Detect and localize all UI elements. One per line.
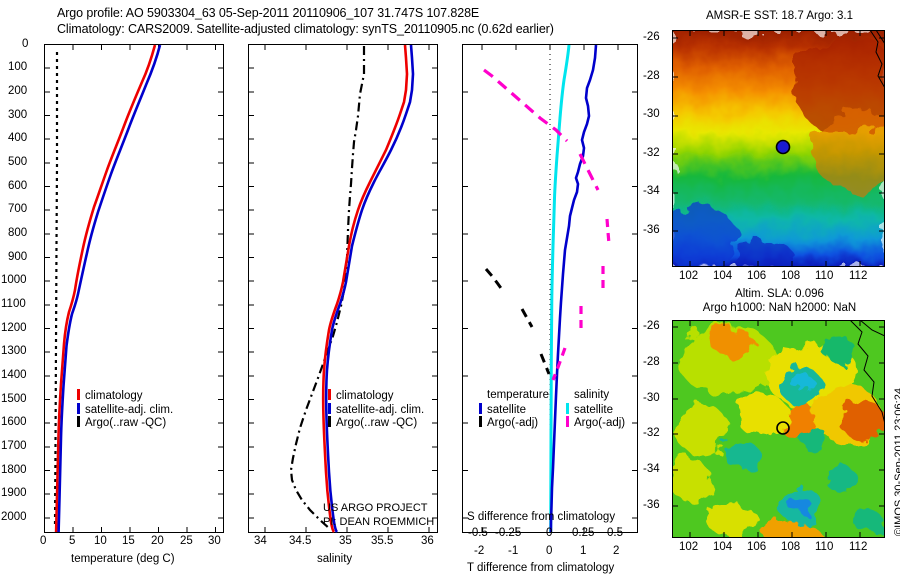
sla-ytick--30: -30 <box>643 392 660 404</box>
sla-xtick-106: 106 <box>747 541 766 553</box>
legend-label-sal-satellite: satellite <box>574 404 613 416</box>
legend-item-temp-satellite: satellite <box>479 403 549 417</box>
t-xtick-1: 1 <box>580 545 586 557</box>
sst-ytick--26: -26 <box>643 31 660 43</box>
sst-ytick--30: -30 <box>643 108 660 120</box>
argo-position-marker <box>777 141 790 154</box>
legend-swatch-sal-argo-adj <box>566 416 569 427</box>
s-xtick--0.25: -0.25 <box>495 527 521 539</box>
sst-ytick--32: -32 <box>643 147 660 159</box>
depth-tick-2000: 2000 <box>1 511 27 523</box>
legend-label-climatology: climatology <box>85 390 143 402</box>
legend-swatch-argo-raw <box>77 416 80 427</box>
depth-tick-1200: 1200 <box>1 322 27 334</box>
sst-ytick--34: -34 <box>643 185 660 197</box>
differences-legend-salinity: salinity satellite Argo(-adj) <box>566 389 625 430</box>
legend-label-satellite-adj: satellite-adj. clim. <box>85 404 173 416</box>
t-xtick--2: -2 <box>474 545 484 557</box>
sst-xtick-108: 108 <box>781 270 800 282</box>
depth-tick-700: 700 <box>8 203 27 215</box>
depth-tick-500: 500 <box>8 156 27 168</box>
sst-xtick-112: 112 <box>849 270 867 282</box>
panel-differences <box>462 44 638 533</box>
legend-label-argo-raw-2: Argo(..raw -QC) <box>336 417 417 429</box>
temp-xtick-5: 5 <box>69 535 75 547</box>
copyright-text: ©IMOS 30-Sep-2011 23:06:24 <box>893 388 900 536</box>
t-difference-axis-label: T difference from climatology <box>467 562 614 574</box>
sst-map-image <box>672 30 885 267</box>
depth-tick-1400: 1400 <box>1 369 27 381</box>
legend-item-climatology-2: climatology <box>328 389 424 403</box>
temp-xtick-25: 25 <box>180 535 193 547</box>
sla-map-container <box>672 320 885 538</box>
depth-tick-200: 200 <box>8 85 27 97</box>
legend-label-climatology-2: climatology <box>336 390 394 402</box>
s-xtick--0.5: -0.5 <box>468 527 488 539</box>
depth-tick-1900: 1900 <box>1 487 27 499</box>
plot-title-line1: Argo profile: AO 5903304_63 05-Sep-2011 … <box>57 6 479 20</box>
sla-ytick--28: -28 <box>643 356 660 368</box>
depth-tick-600: 600 <box>8 180 27 192</box>
salinity-xtick-34.5: 34.5 <box>289 535 311 547</box>
differences-plot-area <box>462 44 638 533</box>
legend-label-sal-argo-adj: Argo(-adj) <box>574 417 625 429</box>
t-xtick--1: -1 <box>508 545 518 557</box>
sla-map-image <box>672 320 885 538</box>
t-xtick-0: 0 <box>546 545 552 557</box>
project-credit-line2: PI: DEAN ROEMMICH <box>323 516 434 528</box>
legend-swatch-temp-satellite <box>479 403 482 414</box>
depth-tick-300: 300 <box>8 109 27 121</box>
temp-xtick-10: 10 <box>94 535 107 547</box>
depth-tick-1600: 1600 <box>1 416 27 428</box>
s-xtick-0.5: 0.5 <box>607 527 623 539</box>
temp-xtick-30: 30 <box>208 535 221 547</box>
sla-xtick-110: 110 <box>815 541 833 553</box>
salinity-axis-label: salinity <box>317 553 352 565</box>
project-credit-line1: US ARGO PROJECT <box>323 502 428 514</box>
sst-xtick-102: 102 <box>679 270 698 282</box>
sst-ytick--36: -36 <box>643 224 660 236</box>
copyright-text-wrapper: ©IMOS 30-Sep-2011 23:06:24 <box>893 536 900 548</box>
sla-ytick--36: -36 <box>643 499 660 511</box>
legend-swatch-climatology <box>77 389 80 400</box>
sla-xtick-102: 102 <box>679 541 698 553</box>
salinity-xtick-35.5: 35.5 <box>371 535 393 547</box>
temperature-plot-area <box>44 44 224 533</box>
sst-xtick-106: 106 <box>747 270 766 282</box>
sst-map-title: AMSR-E SST: 18.7 Argo: 3.1 <box>672 10 887 22</box>
legend-item-argo-raw-2: Argo(..raw -QC) <box>328 416 424 430</box>
sst-xtick-110: 110 <box>815 270 833 282</box>
legend-label-temp-argo-adj: Argo(-adj) <box>487 417 538 429</box>
sla-xtick-112: 112 <box>849 541 867 553</box>
legend-swatch-satellite-adj-2 <box>328 403 331 414</box>
legend-swatch-climatology-2 <box>328 389 331 400</box>
depth-tick-1800: 1800 <box>1 464 27 476</box>
legend-label-argo-raw: Argo(..raw -QC) <box>85 417 166 429</box>
sla-xtick-104: 104 <box>713 541 732 553</box>
differences-legend-temperature: temperature satellite Argo(-adj) <box>479 389 549 430</box>
depth-tick-1000: 1000 <box>1 274 27 286</box>
salinity-plot-area <box>248 44 438 533</box>
legend-label-temp-satellite: satellite <box>487 404 526 416</box>
legend-item-sal-satellite: satellite <box>566 403 625 417</box>
depth-tick-1100: 1100 <box>1 298 26 310</box>
temperature-axis-label: temperature (deg C) <box>71 553 175 565</box>
depth-tick-800: 800 <box>8 227 27 239</box>
temp-xtick-20: 20 <box>151 535 164 547</box>
depth-tick-900: 900 <box>8 251 27 263</box>
legend-swatch-argo-raw-2 <box>328 416 331 427</box>
legend-swatch-satellite-adj <box>77 403 80 414</box>
sla-ytick--32: -32 <box>643 427 660 439</box>
sla-map-title-line1: Altim. SLA: 0.096 <box>672 288 887 300</box>
temp-xtick-15: 15 <box>122 535 135 547</box>
legend-item-sal-argo-adj: Argo(-adj) <box>566 416 625 430</box>
sst-map-container <box>672 30 885 267</box>
salinity-xtick-34: 34 <box>254 535 267 547</box>
salinity-legend: climatology satellite-adj. clim. Argo(..… <box>328 389 424 430</box>
legend-swatch-sal-satellite <box>566 403 569 414</box>
s-xtick-0.25: 0.25 <box>572 527 594 539</box>
plot-title-line2: Climatology: CARS2009. Satellite-adjuste… <box>57 22 554 36</box>
panel-salinity <box>248 44 438 533</box>
sla-ytick--26: -26 <box>643 320 660 332</box>
temperature-legend: climatology satellite-adj. clim. Argo(..… <box>77 389 173 430</box>
sla-map-title-line2: Argo h1000: NaN h2000: NaN <box>672 302 887 314</box>
sla-ytick--34: -34 <box>643 463 660 475</box>
sst-xtick-104: 104 <box>713 270 732 282</box>
s-xtick-0: 0 <box>546 527 552 539</box>
salinity-xtick-36: 36 <box>421 535 434 547</box>
depth-tick-100: 100 <box>8 61 27 73</box>
legend-label-satellite-adj-2: satellite-adj. clim. <box>336 404 424 416</box>
legend-header-salinity: salinity <box>566 389 625 403</box>
legend-swatch-temp-argo-adj <box>479 416 482 427</box>
legend-item-satellite-adj: satellite-adj. clim. <box>77 403 173 417</box>
depth-tick-1300: 1300 <box>1 345 27 357</box>
depth-tick-1500: 1500 <box>1 393 27 405</box>
t-xtick-2: 2 <box>613 545 619 557</box>
depth-tick-400: 400 <box>8 132 27 144</box>
depth-tick-0: 0 <box>22 38 28 50</box>
legend-item-satellite-adj-2: satellite-adj. clim. <box>328 403 424 417</box>
depth-tick-1700: 1700 <box>1 440 27 452</box>
s-difference-axis-label: S difference from climatology <box>467 511 615 523</box>
legend-item-argo-raw: Argo(..raw -QC) <box>77 416 173 430</box>
temp-xtick-0: 0 <box>40 535 46 547</box>
sla-xtick-108: 108 <box>781 541 800 553</box>
legend-item-temp-argo-adj: Argo(-adj) <box>479 416 549 430</box>
panel-temperature <box>44 44 224 533</box>
legend-item-climatology: climatology <box>77 389 173 403</box>
sst-ytick--28: -28 <box>643 70 660 82</box>
salinity-xtick-35: 35 <box>339 535 352 547</box>
legend-header-temperature: temperature <box>479 389 549 403</box>
